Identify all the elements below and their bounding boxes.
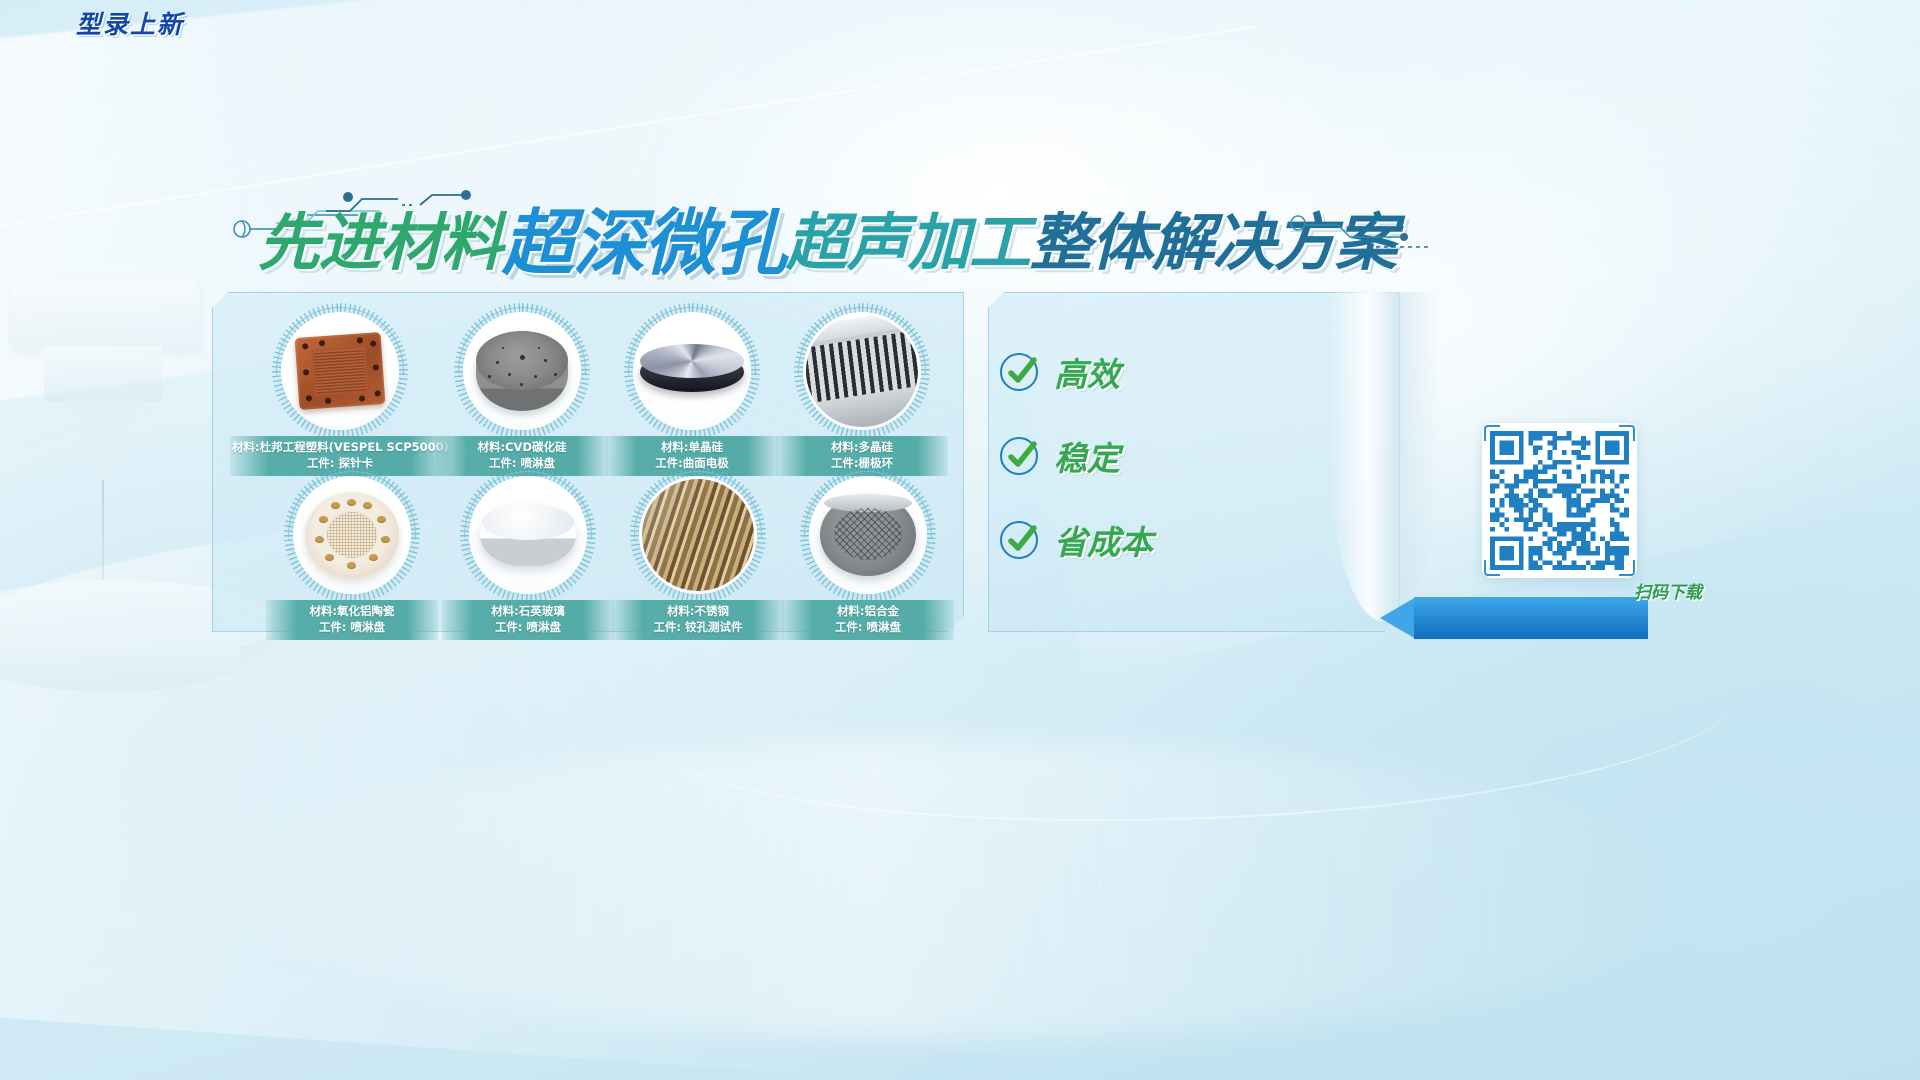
material-card[interactable]: 材料:铝合金 工件: 喷淋盘 xyxy=(782,476,954,624)
circuit-decoration-right-icon xyxy=(1280,213,1440,265)
material-label: 材料:氧化铝陶瓷 工件: 喷淋盘 xyxy=(266,600,438,640)
material-photo xyxy=(293,476,411,594)
workpiece-name: 工件: 喷淋盘 xyxy=(444,620,612,636)
scan-download-label: 扫码下载 xyxy=(1634,578,1702,603)
material-photo xyxy=(809,476,927,594)
material-name: 材料:不锈钢 xyxy=(614,604,782,620)
material-name: 材料:多晶硅 xyxy=(778,440,946,456)
material-photo xyxy=(803,312,921,430)
panel-sheen-decoration xyxy=(1330,292,1440,622)
material-name: 材料:氧化铝陶瓷 xyxy=(268,604,436,620)
page-title: 先进材料超深微孔超声加工整体解决方案 xyxy=(258,207,1396,279)
material-name: 材料:单晶硅 xyxy=(608,440,776,456)
background-swoosh-5 xyxy=(200,740,1700,1040)
material-name: 材料:铝合金 xyxy=(784,604,952,620)
benefit-item: 省成本 xyxy=(1000,516,1220,564)
material-photo xyxy=(639,476,757,594)
material-name: 材料:CVD碳化硅 xyxy=(438,440,606,456)
material-label: 材料:不锈钢 工件: 铰孔测试件 xyxy=(612,600,784,640)
catalog-update-ribbon[interactable] xyxy=(1380,597,1648,639)
material-card[interactable]: 材料:单晶硅 工件:曲面电极 xyxy=(606,312,778,460)
material-label: 材料:铝合金 工件: 喷淋盘 xyxy=(782,600,954,640)
poster-title-block: 先进材料超深微孔超声加工整体解决方案 xyxy=(250,185,1370,295)
material-card[interactable]: 材料:石英玻璃 工件: 喷淋盘 xyxy=(442,476,614,624)
material-card[interactable]: 材料:氧化铝陶瓷 工件: 喷淋盘 xyxy=(266,476,438,624)
benefit-label: 高效 xyxy=(1054,348,1120,396)
ribbon-label: 型录上新 xyxy=(76,5,184,41)
benefits-list: 高效 稳定 省成本 xyxy=(1000,348,1220,600)
check-circle-icon xyxy=(1000,521,1038,559)
material-photo xyxy=(633,312,751,430)
material-card[interactable]: 材料:不锈钢 工件: 铰孔测试件 xyxy=(612,476,784,624)
check-circle-icon xyxy=(1000,353,1038,391)
benefit-label: 稳定 xyxy=(1054,432,1120,480)
workpiece-name: 工件: 铰孔测试件 xyxy=(614,620,782,636)
material-card[interactable]: 材料:杜邦工程塑料(VESPEL SCP5000) 工件: 探针卡 xyxy=(254,312,426,460)
title-segment-2: 超深微孔 xyxy=(502,207,786,279)
check-circle-icon xyxy=(1000,437,1038,475)
benefit-item: 稳定 xyxy=(1000,432,1220,480)
material-name: 材料:石英玻璃 xyxy=(444,604,612,620)
material-photo xyxy=(463,312,581,430)
qr-code-icon[interactable] xyxy=(1482,423,1637,578)
material-photo xyxy=(281,312,399,430)
workpiece-name: 工件: 喷淋盘 xyxy=(268,620,436,636)
material-card[interactable]: 材料:多晶硅 工件:栅极环 xyxy=(776,312,948,460)
title-segment-3: 超声加工 xyxy=(786,212,1030,274)
material-cards-grid: 材料:杜邦工程塑料(VESPEL SCP5000) 工件: 探针卡 xyxy=(246,312,946,620)
material-card[interactable]: 材料:CVD碳化硅 工件: 喷淋盘 xyxy=(436,312,608,460)
workpiece-name: 工件: 喷淋盘 xyxy=(784,620,952,636)
title-segment-1: 先进材料 xyxy=(258,212,502,274)
material-name: 材料:杜邦工程塑料(VESPEL SCP5000) xyxy=(232,440,448,456)
benefit-label: 省成本 xyxy=(1054,516,1153,564)
material-photo xyxy=(469,476,587,594)
benefit-item: 高效 xyxy=(1000,348,1220,396)
material-label: 材料:石英玻璃 工件: 喷淋盘 xyxy=(442,600,614,640)
